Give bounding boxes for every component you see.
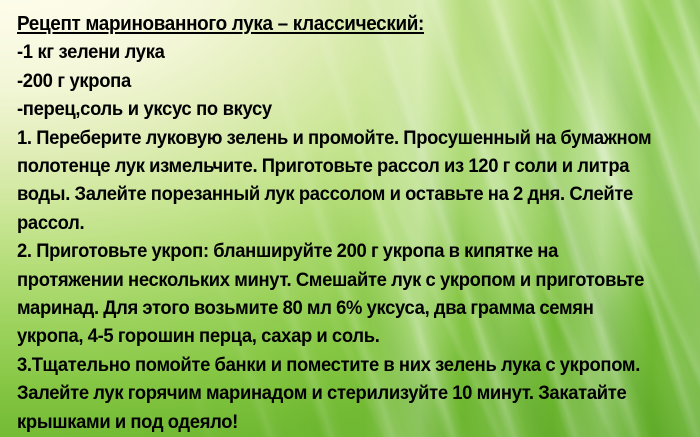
ingredient-line-2: -200 г укропа [17, 67, 655, 95]
recipe-text-block: Рецепт маринованного лука – классический… [17, 10, 692, 436]
recipe-card: Рецепт маринованного лука – классический… [0, 0, 700, 437]
ingredient-line-3: -перец,соль и уксус по вкусу [17, 95, 655, 123]
recipe-step-1: 1. Переберите луковую зелень и промойте.… [17, 124, 655, 238]
recipe-step-3: 3.Тщательно помойте банки и поместите в … [17, 351, 655, 436]
recipe-title: Рецепт маринованного лука – классический… [17, 10, 655, 38]
ingredient-line-1: -1 кг зелени лука [17, 38, 655, 66]
recipe-step-2: 2. Приготовьте укроп: бланшируйте 200 г … [17, 237, 655, 351]
